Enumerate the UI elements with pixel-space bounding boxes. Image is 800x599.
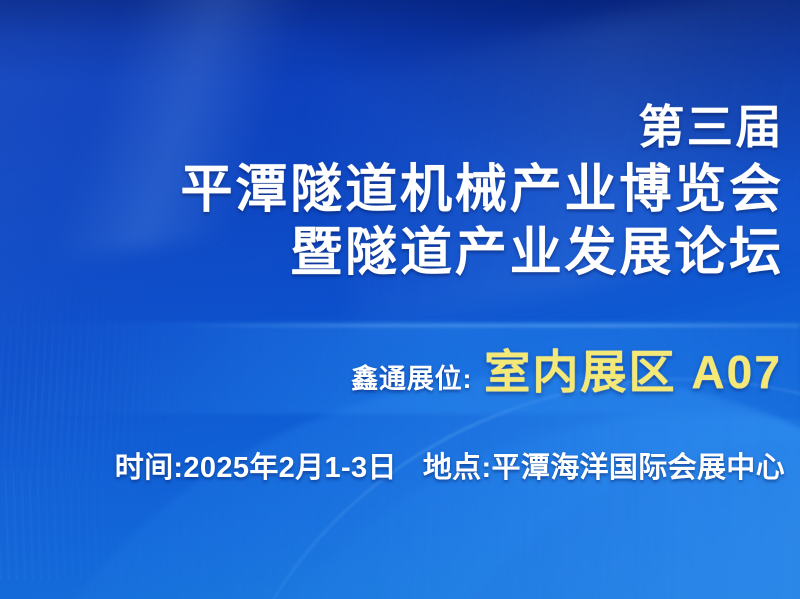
event-meta: 时间:2025年2月1-3日 地点:平潭海洋国际会展中心 <box>0 444 785 486</box>
title-line-main: 平潭隧道机械产业博览会 <box>181 164 784 216</box>
event-date: 时间:2025年2月1-3日 <box>115 444 397 486</box>
title-line-sub: 暨隧道产业发展论坛 <box>181 227 784 279</box>
booth-info: 鑫通展位: 室内展区 A07 <box>351 336 782 402</box>
booth-label: 鑫通展位: <box>351 357 472 396</box>
title-line-edition: 第三届 <box>181 104 784 150</box>
exhibition-poster: 第三届 平潭隧道机械产业博览会 暨隧道产业发展论坛 鑫通展位: 室内展区 A07… <box>0 0 800 599</box>
booth-number: 室内展区 A07 <box>484 336 782 402</box>
poster-content: 第三届 平潭隧道机械产业博览会 暨隧道产业发展论坛 鑫通展位: 室内展区 A07… <box>0 0 800 599</box>
event-location: 地点:平潭海洋国际会展中心 <box>423 444 785 486</box>
poster-title: 第三届 平潭隧道机械产业博览会 暨隧道产业发展论坛 <box>181 104 784 279</box>
